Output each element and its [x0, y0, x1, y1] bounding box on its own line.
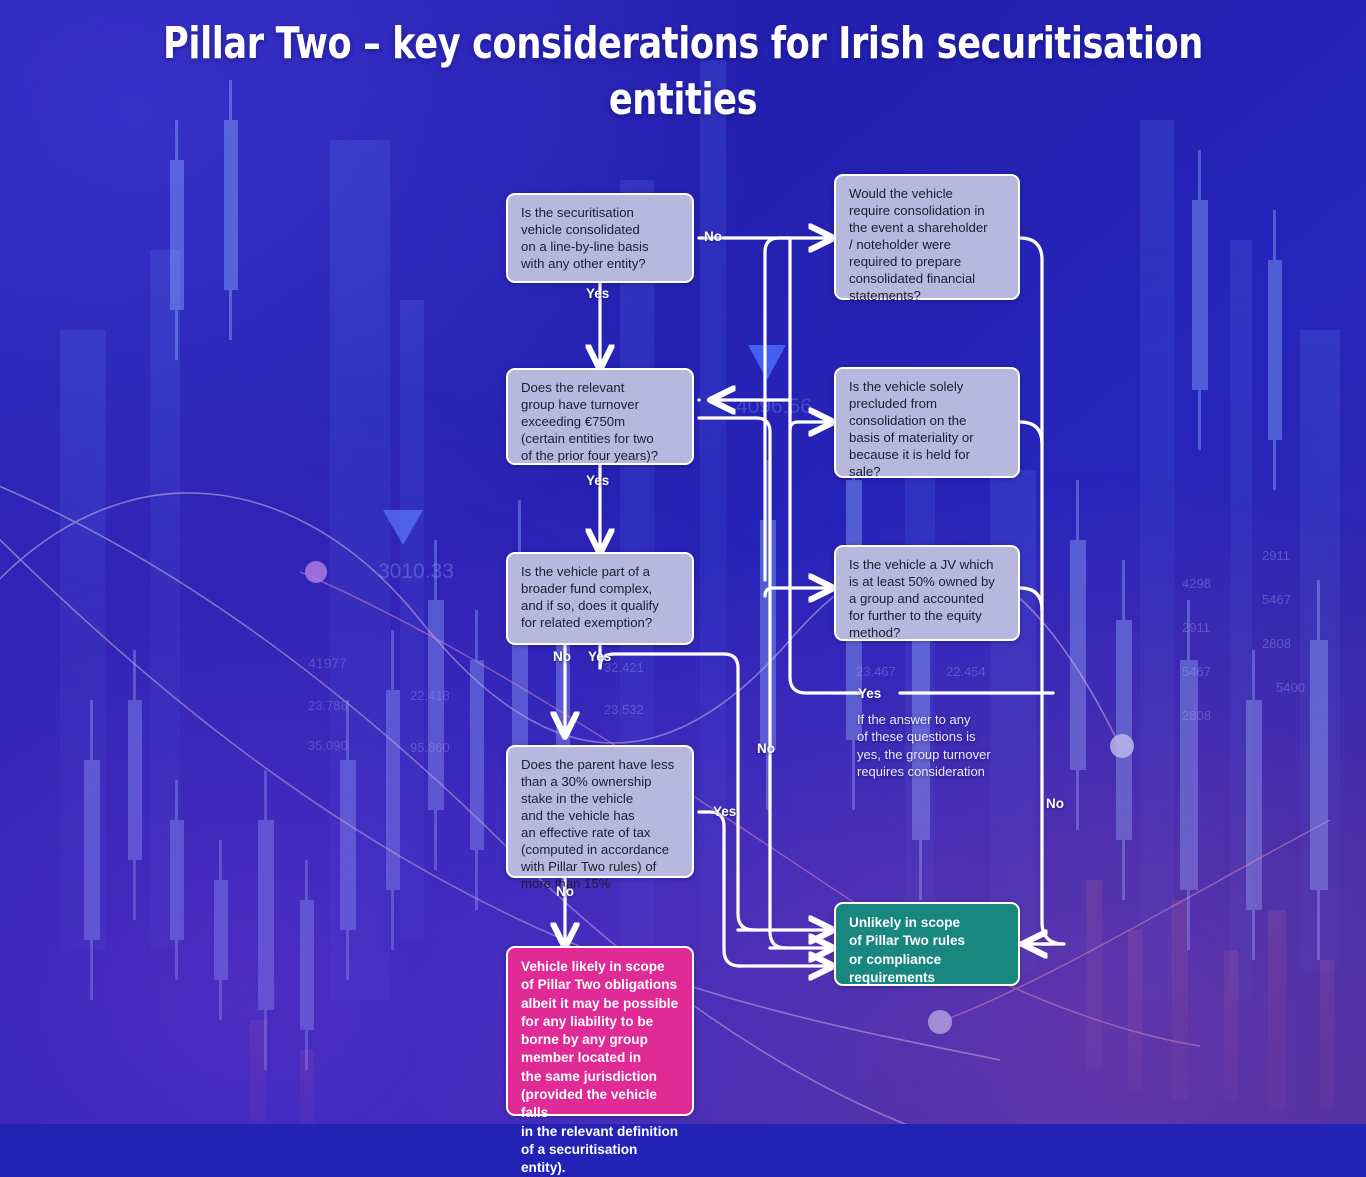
decision-consolidation[interactable]: Is the securitisation vehicle consolidat… [506, 193, 694, 283]
decision-parent-stake[interactable]: Does the parent have less than a 30% own… [506, 745, 694, 878]
edge-label-parent-yes: Yes [713, 804, 736, 819]
edge-label-consolidation-yes: Yes [586, 286, 609, 301]
decision-fund-complex[interactable]: Is the vehicle part of a broader fund co… [506, 552, 694, 645]
edge-label-right-group-no: No [1046, 796, 1064, 811]
decision-shareholder-consolidation[interactable]: Would the vehicle require consolidation … [834, 174, 1020, 300]
edge-label-turnover-no: No [757, 741, 775, 756]
edge-label-fund-no: No [553, 649, 571, 664]
decision-materiality[interactable]: Is the vehicle solely precluded from con… [834, 367, 1020, 478]
edge-label-turnover-yes: Yes [586, 473, 609, 488]
outcome-in-scope[interactable]: Vehicle likely in scope of Pillar Two ob… [506, 946, 694, 1116]
flowchart: Is the securitisation vehicle consolidat… [0, 0, 1366, 1124]
edge-label-parent-no: No [556, 884, 574, 899]
outcome-out-of-scope[interactable]: Unlikely in scope of Pillar Two rules or… [834, 902, 1020, 986]
decision-turnover[interactable]: Does the relevant group have turnover ex… [506, 368, 694, 465]
edge-label-consolidation-no: No [704, 229, 722, 244]
decision-jv[interactable]: Is the vehicle a JV which is at least 50… [834, 545, 1020, 641]
turnover-consideration-note: If the answer to any of these questions … [857, 711, 1057, 780]
edge-label-right-group-yes: Yes [858, 686, 881, 701]
edge-label-fund-yes: Yes [588, 649, 611, 664]
